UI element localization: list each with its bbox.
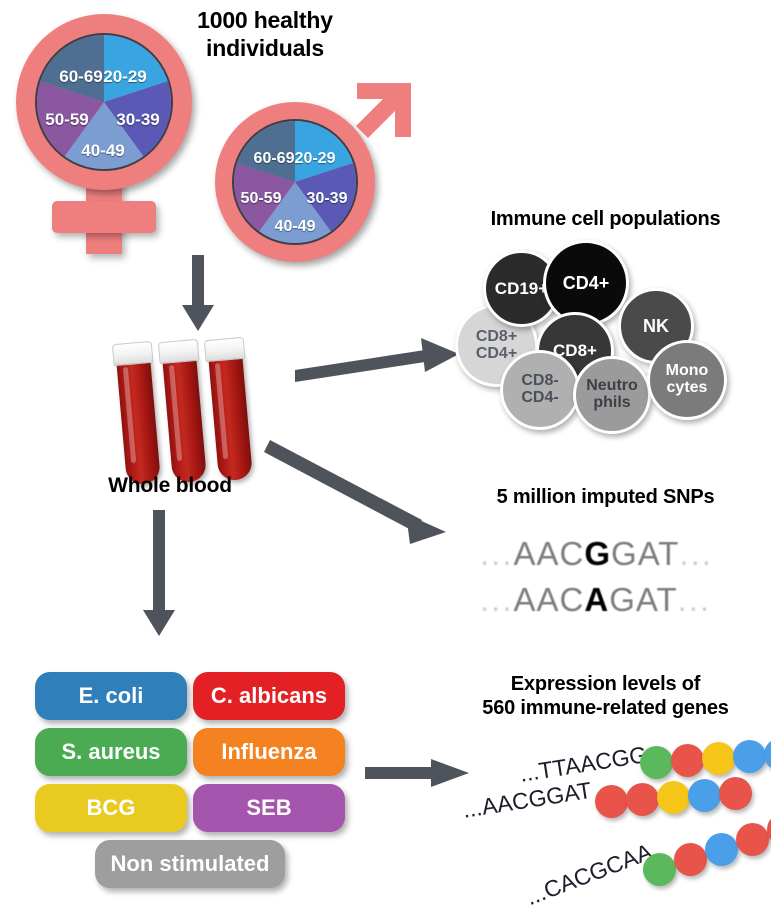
immune-cell-label: CD19+ — [495, 280, 548, 298]
male-symbol: 20-29 30-39 40-49 50-59 60-69 — [205, 68, 425, 268]
immune-cell-label-line1: CD8- — [521, 373, 558, 390]
arrow-blood-to-stimuli — [139, 510, 183, 640]
rna-bead — [688, 779, 721, 812]
blood-tube-body — [162, 353, 207, 483]
stimulus-non-stimulated[interactable]: Non stimulated — [95, 840, 285, 888]
immune-cell-cluster: CD8+ CD4+ CD19+ CD4+ CD8+ NK CD8- CD4- — [455, 240, 755, 430]
immune-cell-neutrophils: Neutro phils — [573, 356, 651, 434]
immune-section-title: Immune cell populations — [440, 207, 771, 231]
stimulus-label: SEB — [246, 795, 291, 821]
rna-bead — [719, 777, 752, 810]
blood-tube-cap — [158, 339, 200, 364]
male-age-label-50-59: 50-59 — [241, 190, 282, 208]
blood-tube-body — [208, 351, 253, 481]
expression-title-line1: Expression levels of — [440, 672, 771, 696]
female-age-label-60-69: 60-69 — [59, 67, 102, 87]
rna-bead — [764, 738, 771, 771]
blood-tube-body — [116, 355, 161, 485]
stimulus-label: Non stimulated — [111, 851, 270, 877]
blood-tube-highlight — [123, 367, 136, 463]
snp-variant-allele: A — [584, 581, 609, 618]
female-symbol-crossbar — [52, 201, 156, 233]
stimulus-influenza[interactable]: Influenza — [193, 728, 345, 776]
male-age-label-60-69: 60-69 — [254, 150, 295, 168]
arrow-cohort-to-blood — [178, 255, 222, 335]
immune-cell-label: NK — [643, 317, 669, 336]
snps-section-title: 5 million imputed SNPs — [440, 485, 771, 509]
arrow-blood-to-immune — [295, 325, 465, 385]
figure-canvas: 1000 healthy individuals 20-29 30-39 40-… — [0, 0, 771, 922]
male-age-pie: 20-29 30-39 40-49 50-59 60-69 — [232, 119, 358, 245]
snp-prefix: AAC — [514, 535, 585, 572]
male-age-label-20-29: 20-29 — [295, 150, 336, 168]
rna-bead — [643, 853, 676, 886]
rna-bead — [733, 740, 766, 773]
snp-dots-left: ... — [480, 535, 514, 572]
snp-dots-right: ... — [679, 535, 713, 572]
stimulus-bcg[interactable]: BCG — [35, 784, 187, 832]
blood-tube-cap — [112, 341, 154, 366]
immune-cell-monocytes: Mono cytes — [647, 340, 727, 420]
male-age-label-40-49: 40-49 — [275, 218, 316, 236]
whole-blood-tubes — [110, 348, 270, 468]
whole-blood-label: Whole blood — [60, 473, 280, 499]
immune-cell-label-line1: CD8+ — [476, 329, 517, 346]
immune-cell-label-line2: phils — [586, 395, 638, 412]
female-age-label-40-49: 40-49 — [81, 141, 124, 161]
snp-dots-left: ... — [480, 581, 514, 618]
female-age-label-20-29: 20-29 — [103, 67, 146, 87]
immune-cell-label-line2: CD4- — [521, 390, 558, 407]
immune-cell-label: CD4+ — [563, 274, 610, 293]
rna-bead — [736, 823, 769, 856]
female-age-pie: 20-29 30-39 40-49 50-59 60-69 — [35, 33, 173, 171]
snp-variant-allele: G — [584, 535, 611, 572]
snp-sequences: ...AACGGAT... ...AACAGAT... — [480, 535, 760, 625]
blood-tube-cap — [204, 337, 246, 362]
rna-bead — [674, 843, 707, 876]
immune-cell-label-line1: Neutro — [586, 378, 638, 395]
rna-bead — [705, 833, 738, 866]
rna-bead — [595, 785, 628, 818]
stimulus-label: Influenza — [221, 739, 316, 765]
immune-cell-label-line1: Mono — [666, 363, 709, 380]
blood-tube-highlight — [215, 363, 228, 459]
rna-bead — [626, 783, 659, 816]
female-age-label-50-59: 50-59 — [45, 110, 88, 130]
snp-suffix: GAT — [611, 535, 679, 572]
female-symbol: 20-29 30-39 40-49 50-59 60-69 — [8, 14, 208, 254]
snp-suffix: GAT — [609, 581, 677, 618]
snp-sequence-row: ...AACAGAT... — [480, 581, 711, 619]
snp-dots-right: ... — [678, 581, 712, 618]
female-age-label-30-39: 30-39 — [116, 110, 159, 130]
rna-strands: ...TTAACGG ...AACGGAT ...CACGCAA — [455, 735, 771, 910]
stimulus-label: BCG — [87, 795, 136, 821]
rna-bead — [702, 742, 735, 775]
stimulus-label: C. albicans — [211, 683, 327, 709]
male-age-label-30-39: 30-39 — [307, 190, 348, 208]
stimulus-seb[interactable]: SEB — [193, 784, 345, 832]
rna-bead — [640, 746, 673, 779]
expression-title-line2: 560 immune-related genes — [440, 696, 771, 720]
stimuli-panel: E. coli C. albicans S. aureus Influenza … — [35, 672, 345, 897]
rna-bead — [657, 781, 690, 814]
snp-prefix: AAC — [514, 581, 585, 618]
stimulus-s-aureus[interactable]: S. aureus — [35, 728, 187, 776]
stimulus-c-albicans[interactable]: C. albicans — [193, 672, 345, 720]
stimulus-e-coli[interactable]: E. coli — [35, 672, 187, 720]
rna-strand-sequence: ...CACGCAA — [522, 838, 656, 911]
immune-cell-label-line2: CD4+ — [476, 346, 517, 363]
expression-section-title: Expression levels of 560 immune-related … — [440, 672, 771, 721]
immune-cell-cd8n-cd4n: CD8- CD4- — [500, 350, 580, 430]
immune-cell-label-line2: cytes — [666, 380, 709, 397]
blood-tube-highlight — [169, 365, 182, 461]
stimulus-label: E. coli — [79, 683, 144, 709]
rna-bead — [671, 744, 704, 777]
stimulus-label: S. aureus — [61, 739, 160, 765]
snp-sequence-row: ...AACGGAT... — [480, 535, 713, 573]
arrow-blood-to-snps — [270, 440, 460, 550]
